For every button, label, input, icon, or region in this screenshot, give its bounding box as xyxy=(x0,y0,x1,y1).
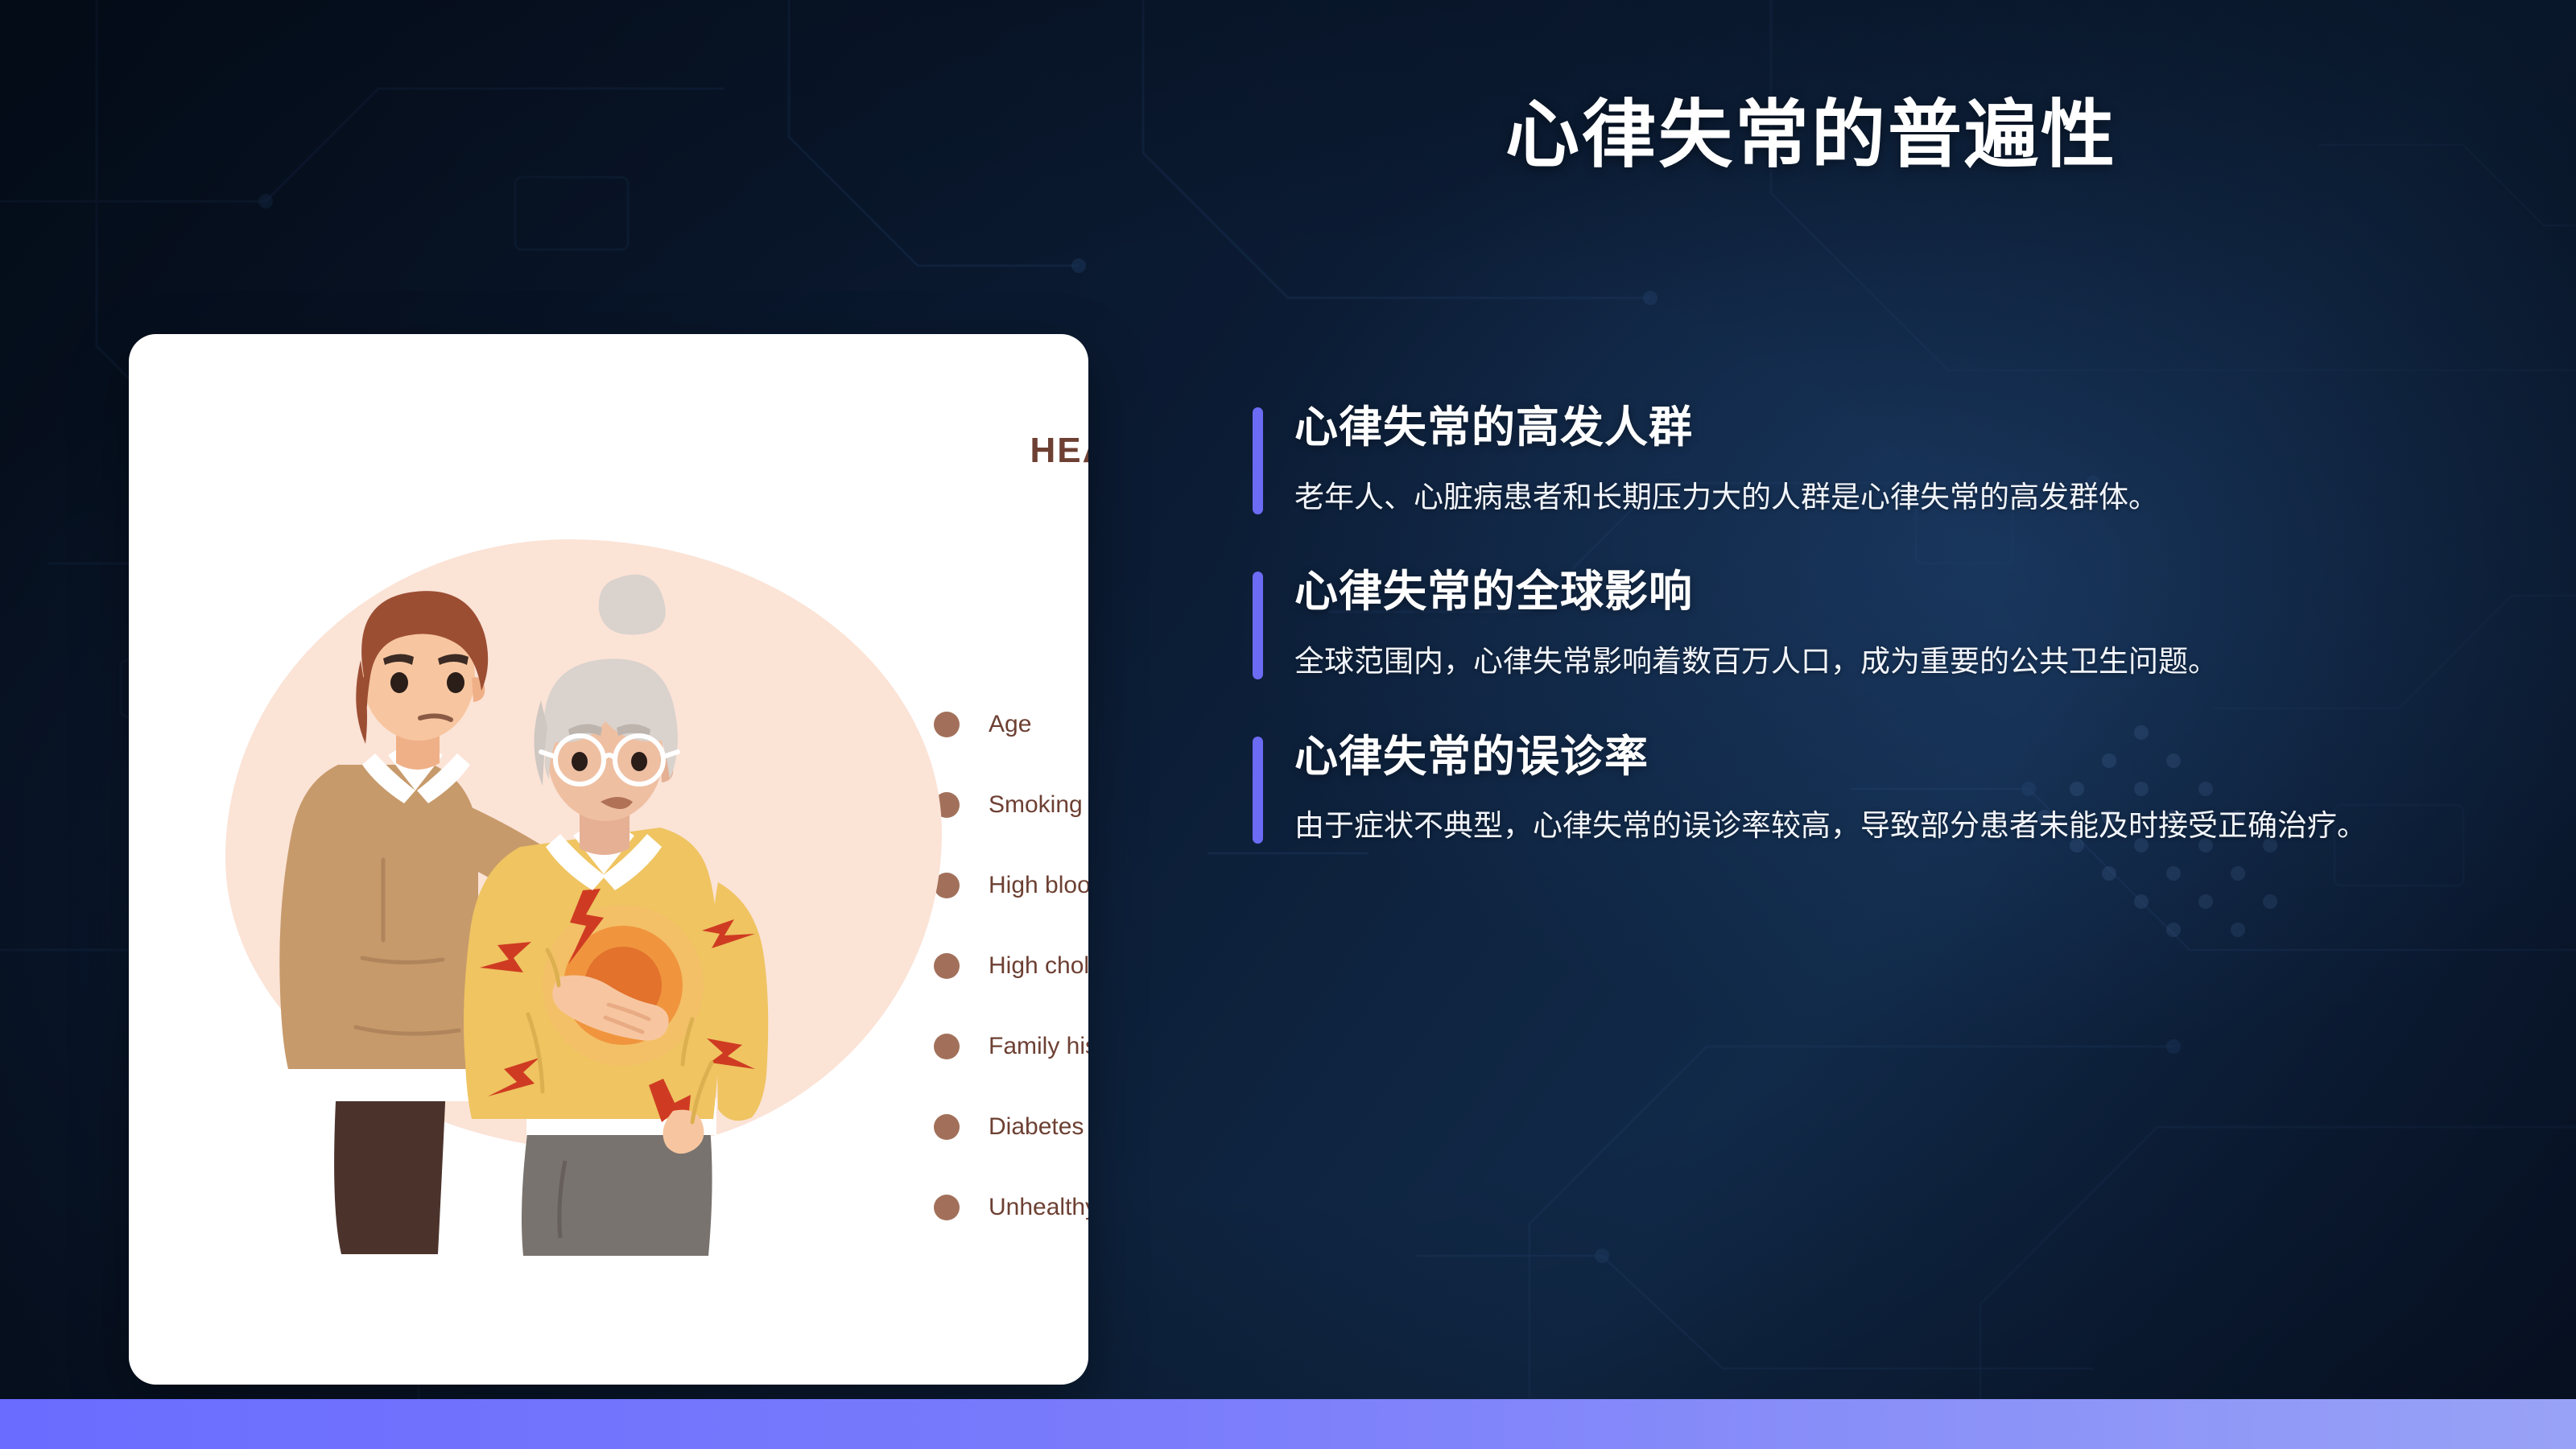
bullet-dot-icon xyxy=(934,1034,960,1059)
accent-bar xyxy=(1253,737,1263,844)
content-block-2: 心律失常的全球影响 全球范围内，心律失常影响着数百万人口，成为重要的公共卫生问题… xyxy=(1253,565,2476,685)
illustration-card: HEART ATTACK RISK Age Smoking High blood… xyxy=(129,334,1088,1385)
content-block-1: 心律失常的高发人群 老年人、心脏病患者和长期压力大的人群是心律失常的高发群体。 xyxy=(1253,401,2476,521)
list-item-label: Age xyxy=(989,711,1031,738)
content-block-heading: 心律失常的全球影响 xyxy=(1294,565,2476,620)
content-block-list: 心律失常的高发人群 老年人、心脏病患者和长期压力大的人群是心律失常的高发群体。 … xyxy=(1253,401,2476,850)
list-item-label: Family history xyxy=(989,1033,1088,1060)
bullet-dot-icon xyxy=(934,712,960,737)
illustration-heading: HEART ATTACK RISK xyxy=(129,427,1088,522)
list-item-label: High cholesterol xyxy=(989,952,1088,980)
content-block-3: 心律失常的误诊率 由于症状不典型，心律失常的误诊率较高，导致部分患者未能及时接受… xyxy=(1253,730,2476,850)
content-block-body: 全球范围内，心律失常影响着数百万人口，成为重要的公共卫生问题。 xyxy=(1294,638,2421,686)
bullet-dot-icon xyxy=(934,1114,960,1140)
content-block-heading: 心律失常的误诊率 xyxy=(1294,730,2476,785)
content-block-heading: 心律失常的高发人群 xyxy=(1294,401,2476,456)
content-block-body: 老年人、心脏病患者和长期压力大的人群是心律失常的高发群体。 xyxy=(1294,473,2421,522)
content-block-body: 由于症状不典型，心律失常的误诊率较高，导致部分患者未能及时接受正确治疗。 xyxy=(1294,802,2421,850)
list-item: Smoking xyxy=(934,765,1088,845)
list-item: High cholesterol xyxy=(934,926,1088,1006)
list-item: Diabetes xyxy=(934,1087,1088,1167)
list-item: Age xyxy=(934,684,1088,765)
risk-factor-list: Age Smoking High blood pressure High cho… xyxy=(934,684,1088,1248)
accent-bar xyxy=(1253,407,1263,514)
list-item-label: Diabetes xyxy=(989,1113,1084,1141)
bottom-accent-bar xyxy=(0,1399,2576,1449)
bullet-dot-icon xyxy=(934,953,960,979)
slide-title: 心律失常的普遍性 xyxy=(1127,95,2495,176)
list-item: High blood pressure xyxy=(934,845,1088,926)
list-item-label: Smoking xyxy=(989,791,1083,819)
list-item: Family history xyxy=(934,1006,1088,1087)
illustration-heading-line1: HEART ATTACK xyxy=(1030,431,1088,470)
bullet-dot-icon xyxy=(934,1195,960,1220)
list-item-label: Unhealthy diet xyxy=(989,1194,1088,1221)
accent-bar xyxy=(1253,572,1263,679)
patient-illustration xyxy=(242,563,934,1256)
presentation-slide: 心律失常的普遍性 HEART ATTACK RISK Age Smoking H… xyxy=(0,0,2576,1449)
list-item: Unhealthy diet xyxy=(934,1167,1088,1248)
list-item-label: High blood pressure xyxy=(989,872,1088,899)
